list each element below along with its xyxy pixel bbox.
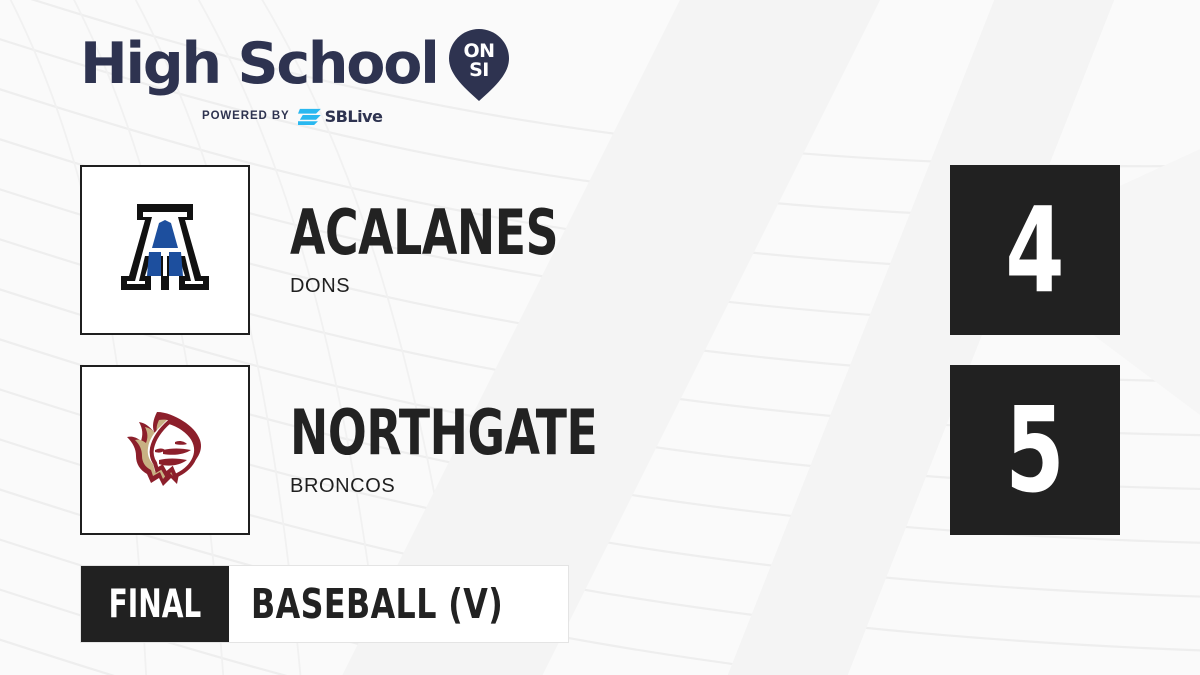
team-logo-box xyxy=(80,165,250,335)
northgate-bronco-head-logo xyxy=(105,390,225,510)
team-score: 5 xyxy=(1005,391,1064,509)
team-score-box: 5 xyxy=(950,365,1120,535)
sport-label-text: BASEBALL (V) xyxy=(251,580,503,628)
game-status-bar: FINAL BASEBALL (V) xyxy=(80,565,569,643)
sblive-wordmark: SBLive xyxy=(324,107,382,125)
brand-wordmark: High School xyxy=(80,35,438,93)
sblive-s-mark xyxy=(298,109,321,125)
sport-label: BASEBALL (V) xyxy=(229,566,568,642)
team-name: ACALANES xyxy=(290,202,971,264)
powered-by-row: POWERED BY SBLive xyxy=(80,106,510,125)
team-logo-box xyxy=(80,365,250,535)
team-score: 4 xyxy=(1005,191,1064,309)
on-si-pin-icon: ON SI xyxy=(448,28,510,102)
status-badge-label: FINAL xyxy=(109,582,202,627)
brand-lockup: High School ON SI POWERED BY SBLive xyxy=(80,28,510,136)
brand-title-row: High School ON SI xyxy=(80,28,510,100)
acalanes-block-a-logo xyxy=(105,190,225,310)
status-badge: FINAL xyxy=(81,566,229,642)
team-score-box: 4 xyxy=(950,165,1120,335)
scoreboard-graphic: High School ON SI POWERED BY SBLive xyxy=(0,0,1200,675)
powered-by-label: POWERED BY xyxy=(202,110,290,122)
pin-label-bottom: SI xyxy=(469,59,489,81)
sblive-logo: SBLive xyxy=(298,106,418,125)
team-name: NORTHGATE xyxy=(290,402,971,464)
